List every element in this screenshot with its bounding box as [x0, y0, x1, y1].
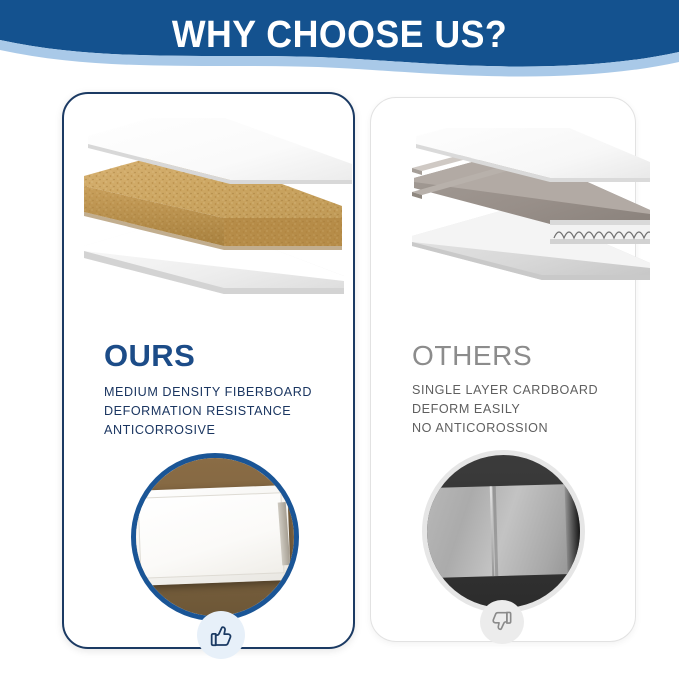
ours-feature-item: DEFORMATION RESISTANCE — [104, 402, 312, 421]
thumbs-down-badge — [480, 600, 524, 644]
fiberboard-panel-exploded-view-illustration — [74, 118, 364, 333]
cardboard-layers-svg — [400, 128, 650, 318]
creased-cardboard-board — [422, 483, 581, 578]
white-board-surface — [138, 492, 285, 579]
thumbs-up-icon — [207, 621, 235, 649]
header-banner: WHY CHOOSE US? — [0, 0, 679, 88]
thumbs-down-icon — [489, 609, 515, 635]
ours-feature-list: MEDIUM DENSITY FIBERBOARD DEFORMATION RE… — [104, 383, 312, 440]
others-photo-background — [427, 455, 580, 608]
photo-dark-edge — [564, 476, 581, 580]
fiberboard-layers-svg — [74, 118, 364, 333]
ours-photo-background — [136, 458, 294, 616]
others-feature-item: NO ANTICOROSSION — [412, 419, 598, 438]
ours-product-photo — [131, 453, 299, 621]
ours-heading: OURS — [104, 338, 195, 374]
ours-feature-item: ANTICORROSIVE — [104, 421, 312, 440]
others-product-photo — [422, 450, 585, 613]
white-board-product — [131, 485, 291, 586]
ours-feature-item: MEDIUM DENSITY FIBERBOARD — [104, 383, 312, 402]
thumbs-up-badge — [197, 611, 245, 659]
others-feature-list: SINGLE LAYER CARDBOARD DEFORM EASILY NO … — [412, 381, 598, 438]
others-feature-item: DEFORM EASILY — [412, 400, 598, 419]
others-feature-item: SINGLE LAYER CARDBOARD — [412, 381, 598, 400]
why-choose-us-comparison-graphic: WHY CHOOSE US? — [0, 0, 679, 677]
cardboard-panel-exploded-view-illustration — [400, 128, 650, 318]
others-heading: OTHERS — [412, 340, 532, 372]
page-title: WHY CHOOSE US? — [20, 14, 658, 57]
